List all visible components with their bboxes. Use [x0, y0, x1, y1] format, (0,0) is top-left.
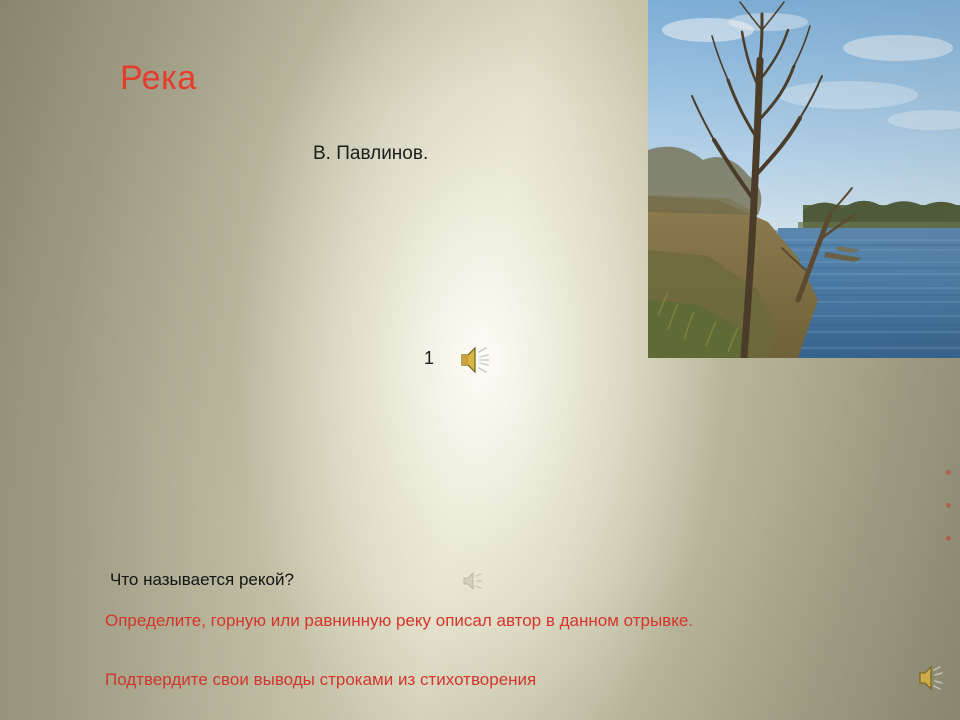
- edge-dots-decoration: [946, 470, 960, 560]
- speaker-small-icon[interactable]: [462, 570, 490, 592]
- page-title: Река: [120, 58, 230, 98]
- question-3: Подтвердите свои выводы строками из стих…: [105, 670, 536, 690]
- river-photo: [648, 0, 960, 358]
- speaker-icon[interactable]: [460, 344, 500, 376]
- slide-number: 1: [424, 348, 434, 369]
- presentation-slide: Река В. Павлинов. 1: [0, 0, 960, 720]
- speaker-icon-bottom-right[interactable]: [918, 663, 952, 693]
- question-1: Что называется рекой?: [110, 570, 294, 590]
- author-label: В. Павлинов.: [313, 143, 428, 165]
- question-2: Определите, горную или равнинную реку оп…: [105, 611, 693, 631]
